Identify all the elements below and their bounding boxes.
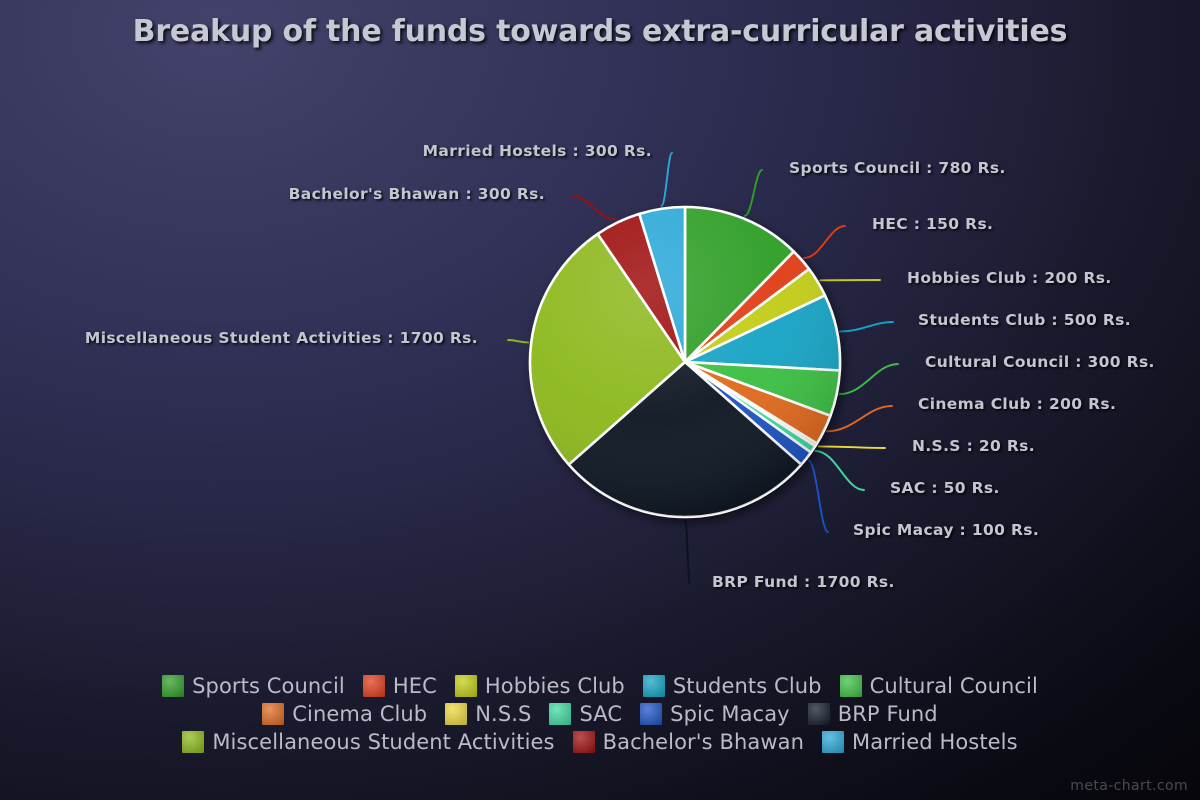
- legend-color-swatch: [573, 731, 595, 753]
- legend-item-label: N.S.S: [475, 704, 531, 725]
- legend-item[interactable]: Sports Council: [162, 675, 345, 697]
- slice-callout-label: Spic Macay : 100 Rs.: [853, 521, 1039, 539]
- slice-callout-label: Hobbies Club : 200 Rs.: [907, 269, 1112, 287]
- legend-item[interactable]: Cinema Club: [262, 703, 427, 725]
- callout-leader-line: [816, 451, 865, 490]
- watermark: meta-chart.com: [1070, 778, 1188, 794]
- legend-item[interactable]: Miscellaneous Student Activities: [182, 731, 554, 753]
- legend-item-label: Hobbies Club: [485, 676, 625, 697]
- legend-item-label: Cinema Club: [292, 704, 427, 725]
- chart-legend: Sports CouncilHECHobbies ClubStudents Cl…: [0, 672, 1200, 756]
- legend-color-swatch: [455, 675, 477, 697]
- callout-leader-line: [662, 153, 673, 206]
- legend-color-swatch: [549, 703, 571, 725]
- legend-item-label: Married Hostels: [852, 732, 1018, 753]
- legend-item-label: Students Club: [673, 676, 822, 697]
- slice-callout-label: Miscellaneous Student Activities : 1700 …: [85, 329, 478, 347]
- callout-leader-line: [840, 364, 898, 394]
- callout-leader-line: [819, 446, 885, 448]
- legend-item-label: BRP Fund: [838, 704, 938, 725]
- chart-canvas: Breakup of the funds towards extra-curri…: [0, 0, 1200, 800]
- callout-leader-line: [809, 461, 829, 533]
- slice-callout-label: Sports Council : 780 Rs.: [789, 159, 1006, 177]
- legend-item[interactable]: Cultural Council: [840, 675, 1038, 697]
- legend-item-label: Sports Council: [192, 676, 345, 697]
- callout-leader-line: [745, 170, 762, 216]
- slice-callout-label: Cultural Council : 300 Rs.: [925, 353, 1155, 371]
- legend-item-label: Cultural Council: [870, 676, 1038, 697]
- legend-color-swatch: [162, 675, 184, 697]
- legend-color-swatch: [840, 675, 862, 697]
- legend-color-swatch: [822, 731, 844, 753]
- legend-item[interactable]: HEC: [363, 675, 437, 697]
- slice-callout-label: Students Club : 500 Rs.: [918, 311, 1131, 329]
- legend-item[interactable]: Spic Macay: [640, 703, 790, 725]
- legend-item-label: Miscellaneous Student Activities: [212, 732, 554, 753]
- slice-callout-label: Married Hostels : 300 Rs.: [423, 142, 652, 160]
- legend-item-label: Bachelor's Bhawan: [603, 732, 804, 753]
- legend-row: Cinema ClubN.S.SSACSpic MacayBRP Fund: [0, 700, 1200, 728]
- slice-callout-label: Bachelor's Bhawan : 300 Rs.: [289, 185, 545, 203]
- legend-color-swatch: [445, 703, 467, 725]
- legend-item-label: SAC: [579, 704, 622, 725]
- legend-color-swatch: [182, 731, 204, 753]
- legend-item[interactable]: BRP Fund: [808, 703, 938, 725]
- legend-item[interactable]: Students Club: [643, 675, 822, 697]
- slice-callout-label: N.S.S : 20 Rs.: [912, 437, 1035, 455]
- legend-item-label: HEC: [393, 676, 437, 697]
- legend-row: Miscellaneous Student ActivitiesBachelor…: [0, 728, 1200, 756]
- legend-color-swatch: [808, 703, 830, 725]
- legend-color-swatch: [363, 675, 385, 697]
- legend-item[interactable]: Bachelor's Bhawan: [573, 731, 804, 753]
- callout-leader-line: [685, 520, 690, 584]
- legend-row: Sports CouncilHECHobbies ClubStudents Cl…: [0, 672, 1200, 700]
- legend-color-swatch: [643, 675, 665, 697]
- callout-leader-line: [508, 340, 528, 342]
- legend-item[interactable]: Hobbies Club: [455, 675, 625, 697]
- callout-leader-line: [804, 226, 845, 258]
- legend-item[interactable]: N.S.S: [445, 703, 531, 725]
- slice-callout-label: HEC : 150 Rs.: [872, 215, 993, 233]
- pie-slices: [530, 207, 840, 517]
- callout-leader-line: [840, 322, 893, 332]
- legend-color-swatch: [262, 703, 284, 725]
- legend-color-swatch: [640, 703, 662, 725]
- slice-callout-label: BRP Fund : 1700 Rs.: [712, 573, 895, 591]
- slice-callout-label: SAC : 50 Rs.: [890, 479, 1000, 497]
- slice-callout-label: Cinema Club : 200 Rs.: [918, 395, 1116, 413]
- legend-item-label: Spic Macay: [670, 704, 790, 725]
- legend-item[interactable]: SAC: [549, 703, 622, 725]
- callout-leader-line: [827, 406, 892, 431]
- callout-leader-line: [572, 196, 616, 220]
- legend-item[interactable]: Married Hostels: [822, 731, 1018, 753]
